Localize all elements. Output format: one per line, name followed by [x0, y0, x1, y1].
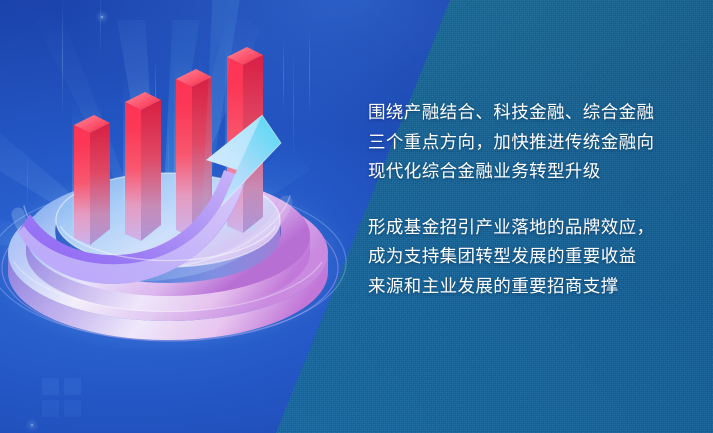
paragraph-2-line-1: 形成基金招引产业落地的品牌效应，	[368, 213, 688, 243]
paragraph-2: 形成基金招引产业落地的品牌效应， 成为支持集团转型发展的重要收益 来源和主业发展…	[368, 213, 688, 302]
paragraph-1: 围绕产融结合、科技金融、综合金融 三个重点方向，加快推进传统金融向 现代化综合金…	[368, 98, 688, 187]
slide-copy: 围绕产融结合、科技金融、综合金融 三个重点方向，加快推进传统金融向 现代化综合金…	[368, 98, 688, 301]
growth-chart-illustration	[0, 0, 360, 433]
paragraph-2-line-3: 来源和主业发展的重要招商支撑	[368, 272, 688, 302]
paragraph-1-line-1: 围绕产融结合、科技金融、综合金融	[368, 98, 688, 128]
slide-canvas: 围绕产融结合、科技金融、综合金融 三个重点方向，加快推进传统金融向 现代化综合金…	[0, 0, 713, 433]
bar-2	[125, 92, 161, 241]
bar-1	[74, 115, 110, 245]
paragraph-1-line-2: 三个重点方向，加快推进传统金融向	[368, 128, 688, 158]
paragraph-2-line-2: 成为支持集团转型发展的重要收益	[368, 242, 688, 272]
paragraph-1-line-3: 现代化综合金融业务转型升级	[368, 157, 688, 187]
